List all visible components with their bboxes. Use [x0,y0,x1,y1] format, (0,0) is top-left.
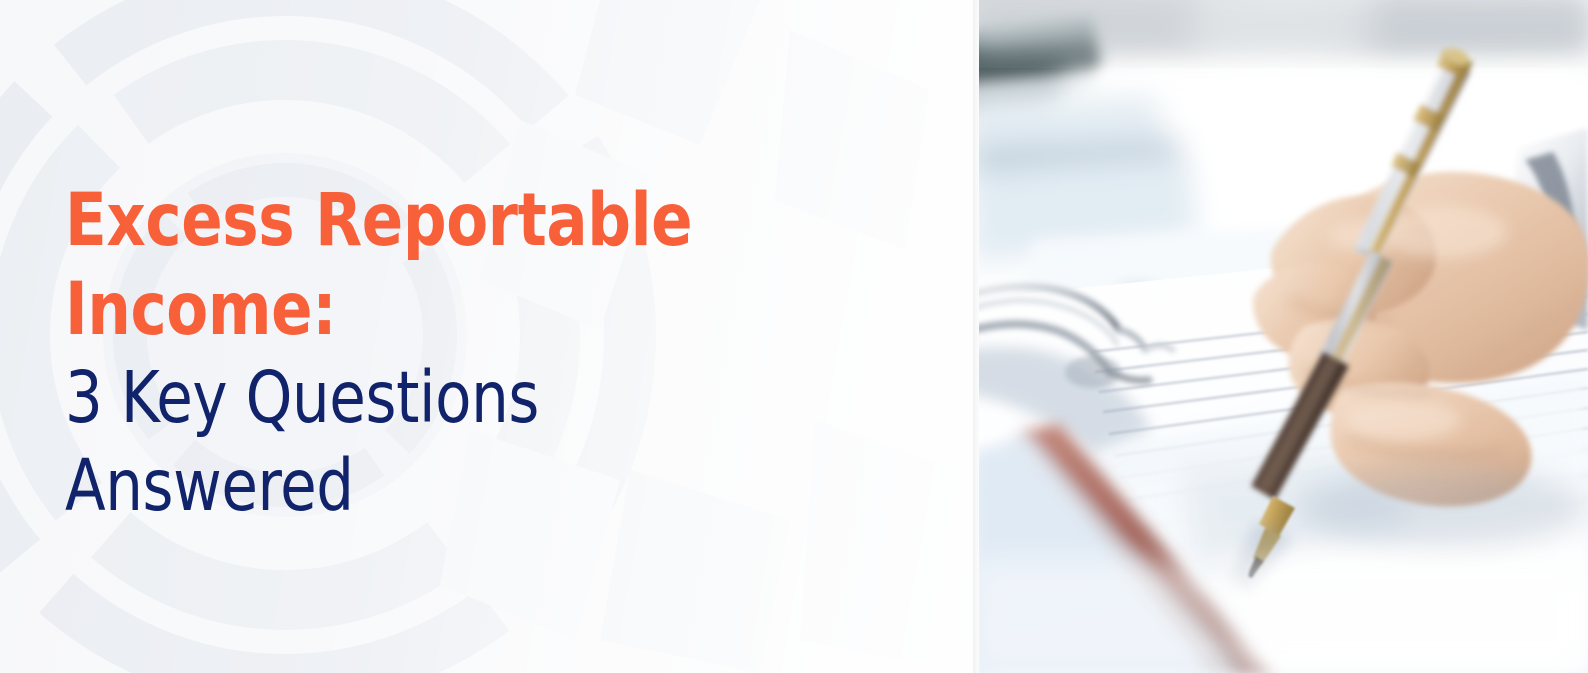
photo-left-edge-strip [973,0,979,673]
left-text-panel: Excess Reportable Income: 3 Key Question… [0,0,973,673]
headline-line-4: Answered [65,442,716,530]
hero-photo-panel [973,0,1588,673]
headline-line-3: 3 Key Questions [65,354,716,442]
headline-line-1: Excess Reportable [65,176,716,265]
hand-writing-with-pen-photo [973,0,1588,673]
headline-line-2: Income: [65,265,716,354]
headline-block: Excess Reportable Income: 3 Key Question… [65,176,765,530]
banner-root: Excess Reportable Income: 3 Key Question… [0,0,1588,673]
